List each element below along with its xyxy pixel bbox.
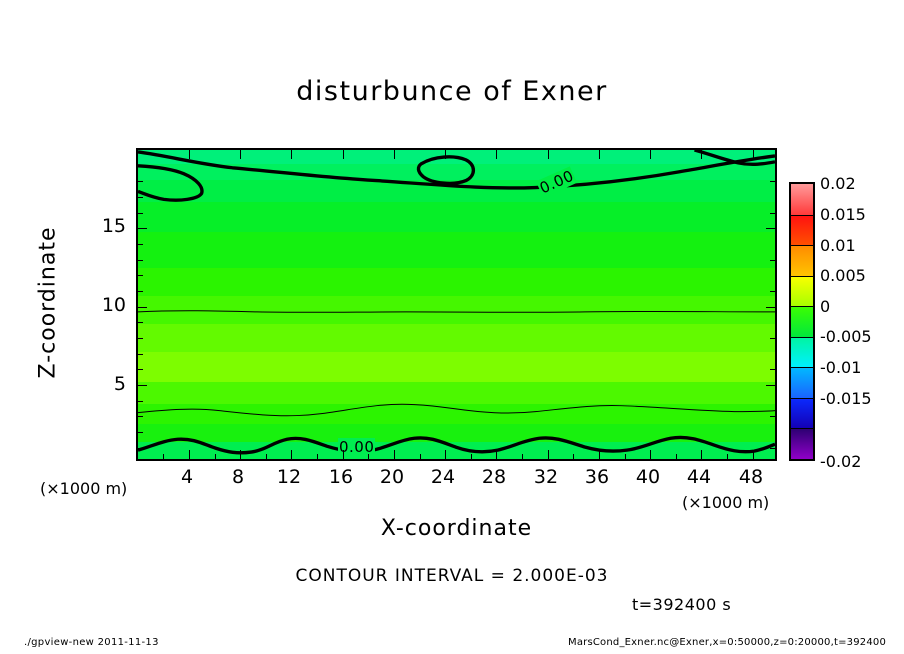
x-tick-label: 36 [577,466,617,488]
x-tick-minor [317,454,318,459]
y-tick-minor [138,291,143,292]
contour-lines [138,150,775,459]
colorbar-label: -0.015 [820,389,872,408]
y-tick-minor [138,260,143,261]
x-tick-minor [266,454,267,459]
x-tick [445,450,446,459]
colorbar-segment [791,276,813,307]
y-tick-right [770,338,775,339]
y-tick-minor [138,369,143,370]
y-tick-right [770,416,775,417]
x-tick-label: 12 [269,466,309,488]
x-tick [599,450,600,459]
x-tick-label: 32 [526,466,566,488]
colorbar-divider [791,306,813,307]
y-tick-minor [138,275,143,276]
y-tick [138,385,147,386]
x-tick-minor [163,454,164,459]
colorbar-label: 0 [820,297,830,316]
colorbar-label: 0.005 [820,266,866,285]
colorbar-segment [791,428,813,459]
colorbar-divider [791,245,813,246]
y-tick-minor [138,322,143,323]
colorbar [789,182,815,461]
y-tick [138,307,147,308]
y-tick-right [770,213,775,214]
colorbar-segment [791,398,813,429]
x-tick [701,450,702,459]
x-tick-minor [420,454,421,459]
y-tick-right [766,385,775,386]
x-tick-minor [676,454,677,459]
y-tick-minor [138,181,143,182]
colorbar-label: -0.005 [820,327,872,346]
x-tick-label: 8 [218,466,258,488]
footer-right: MarsCond_Exner.nc@Exner,x=0:50000,z=0:20… [568,637,886,648]
x-tick-top [753,150,754,159]
colorbar-label: -0.02 [820,452,861,471]
x-tick-label: 40 [628,466,668,488]
contour-plot-area: 0.00 0.00 [136,148,777,461]
colorbar-divider [791,428,813,429]
x-tick-top [343,150,344,159]
y-tick-right [766,228,775,229]
colorbar-segment [791,215,813,246]
y-tick-minor [138,432,143,433]
y-tick-label: 15 [96,215,126,237]
x-tick-top [548,150,549,159]
y-tick-minor [138,448,143,449]
colorbar-divider [791,398,813,399]
y-tick-minor [138,338,143,339]
contour-interval-note: CONTOUR INTERVAL = 2.000E-03 [0,566,904,586]
x-tick-label: 48 [731,466,771,488]
y-tick-minor [138,166,143,167]
page-title: disturbunce of Exner [0,76,904,107]
x-tick-top [701,150,702,159]
x-tick-minor [573,454,574,459]
colorbar-divider [791,337,813,338]
colorbar-segment [791,184,813,215]
x-tick-top [650,150,651,159]
y-tick-right [770,181,775,182]
x-tick-label: 24 [423,466,463,488]
x-tick [548,450,549,459]
x-tick [291,450,292,459]
x-tick-label: 16 [321,466,361,488]
y-tick-right [770,448,775,449]
x-tick-top [496,150,497,159]
z-axis-units: (×1000 m) [40,479,127,498]
x-tick-label: 4 [167,466,207,488]
x-tick-label: 28 [474,466,514,488]
y-tick-label: 5 [96,373,126,395]
y-tick-minor [138,213,143,214]
x-tick-minor [727,454,728,459]
x-tick [394,450,395,459]
colorbar-segment [791,337,813,368]
x-tick [189,450,190,459]
y-tick-minor [138,416,143,417]
y-tick-right [766,307,775,308]
colorbar-label: -0.01 [820,358,861,377]
x-tick-top [445,150,446,159]
y-tick-right [770,369,775,370]
x-tick [753,450,754,459]
x-tick-top [394,150,395,159]
x-tick [240,450,241,459]
footer-left: ./gpview-new 2011-11-13 [24,637,159,648]
x-tick-minor [368,454,369,459]
x-tick-minor [471,454,472,459]
x-tick-top [599,150,600,159]
colorbar-segment [791,245,813,276]
colorbar-segment [791,306,813,337]
x-axis-title: X-coordinate [136,516,777,541]
x-tick-label: 20 [372,466,412,488]
y-tick [138,228,147,229]
x-tick-minor [522,454,523,459]
y-tick-label: 10 [96,294,126,316]
y-tick-minor [138,354,143,355]
x-tick-minor [625,454,626,459]
x-tick-top [291,150,292,159]
x-axis-units: (×1000 m) [682,493,769,512]
colorbar-label: 0.02 [820,174,856,193]
y-tick-minor [138,401,143,402]
x-tick-label: 44 [679,466,719,488]
x-tick-top [240,150,241,159]
x-tick [650,450,651,459]
colorbar-divider [791,367,813,368]
colorbar-segment [791,367,813,398]
colorbar-label: 0.01 [820,236,856,255]
time-annotation: t=392400 s [632,595,731,614]
contour-fill: 0.00 0.00 [138,150,775,459]
x-tick-top [189,150,190,159]
y-axis-title: Z-coordinate [36,193,61,413]
y-tick-right [770,260,775,261]
colorbar-label: 0.015 [820,205,866,224]
x-tick [343,450,344,459]
colorbar-divider [791,276,813,277]
colorbar-divider [791,215,813,216]
y-tick-minor [138,197,143,198]
x-tick-minor [215,454,216,459]
x-tick [496,450,497,459]
y-tick-right [770,291,775,292]
y-tick-minor [138,244,143,245]
